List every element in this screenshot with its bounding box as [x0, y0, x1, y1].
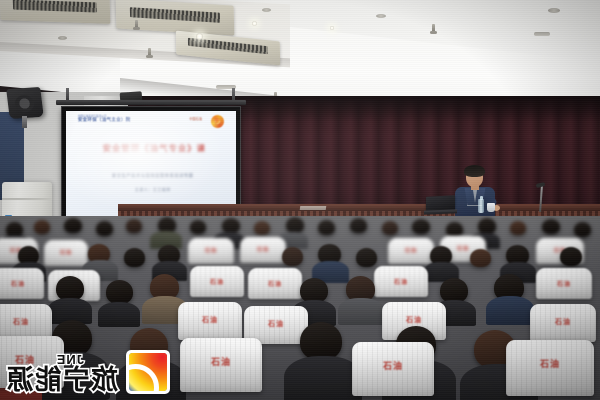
slide-body-line-2: 主讲人：王工程师	[80, 187, 226, 193]
screen-hanger	[66, 88, 69, 100]
laptop-icon	[424, 196, 456, 214]
ceiling-vent-icon	[534, 32, 550, 36]
presenter-hair	[464, 165, 485, 177]
paper-cup-icon	[487, 203, 495, 212]
ceiling-ac-cassette-icon	[0, 0, 110, 24]
ceiling-speaker-icon	[58, 36, 67, 40]
sprinkler-icon	[148, 48, 151, 57]
petro-spiral-logo-icon	[211, 115, 224, 128]
downlight-icon	[330, 26, 334, 30]
screen-hanger	[232, 88, 235, 100]
ceiling-speaker-icon	[548, 8, 560, 13]
screen-mount-bar	[56, 100, 246, 105]
slide-body-line-1: 安全生产技术与现场监管体系培训专题	[80, 173, 226, 179]
downlight-icon	[196, 33, 203, 40]
screen-glow	[66, 111, 236, 219]
speaker-bracket	[22, 116, 27, 128]
slide-header: 安全环保（油气主业）院	[78, 117, 131, 124]
conference-hall-photo: 中国石油天然气集团公司 安全环保（油气主业）院 中国石油 安全管理《油气专业》课…	[0, 0, 600, 400]
slide-title: 安全管理《油气专业》课	[83, 144, 226, 154]
downlight-icon	[252, 21, 257, 26]
water-bottle-icon	[478, 199, 484, 213]
ceiling-speaker-icon	[376, 14, 386, 18]
desk-documents	[300, 206, 327, 210]
wall-loudspeaker-icon	[6, 87, 44, 119]
sprinkler-icon	[432, 24, 435, 33]
ceiling-speaker-icon	[262, 8, 271, 12]
desk-top-rail	[118, 204, 600, 211]
slide-logo-text: 中国石油	[189, 116, 202, 121]
projection-screen-surface: 中国石油天然气集团公司 安全环保（油气主业）院 中国石油 安全管理《油气专业》课…	[66, 111, 236, 219]
sprinkler-icon	[135, 20, 138, 29]
audience-area: 石油 石油 石油 石油 石油 石油 石油	[0, 216, 600, 400]
